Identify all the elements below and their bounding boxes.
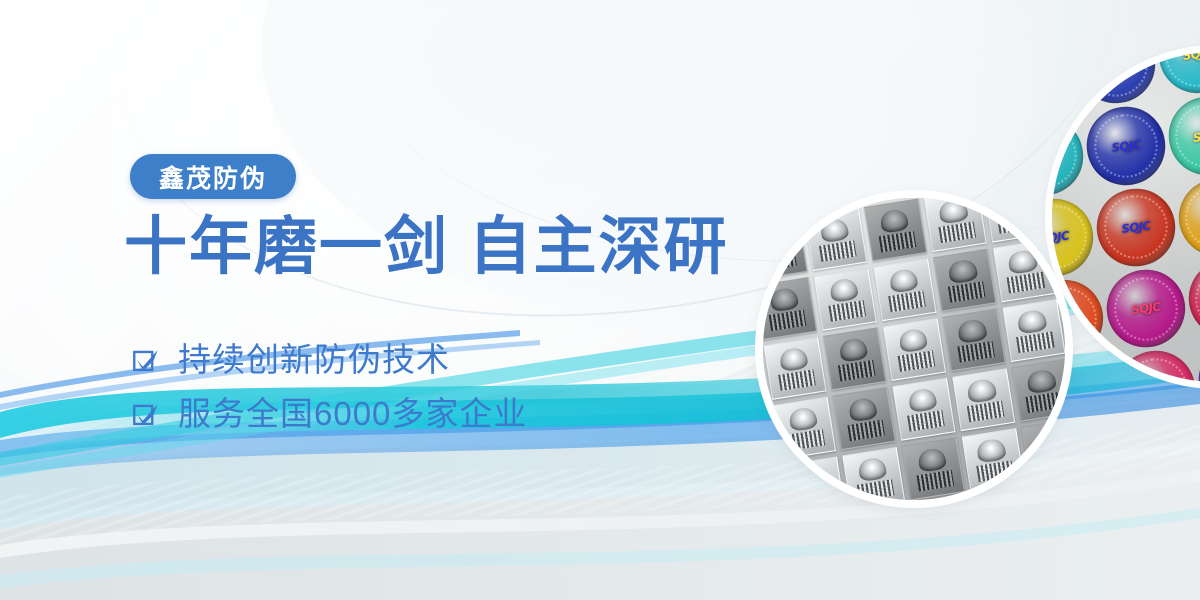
label-code-strip (887, 291, 925, 312)
label-emblem-icon (763, 227, 790, 253)
label-emblem-icon (938, 198, 969, 224)
list-item: 服务全国6000多家企业 (132, 384, 527, 438)
label-code-strip (768, 310, 806, 331)
hologram-sticker: SQJC (1184, 255, 1200, 342)
label-emblem-icon (838, 336, 869, 362)
label-code-strip (828, 300, 866, 321)
label-emblem-icon (966, 377, 997, 403)
hologram-sticker: SQJC (1174, 174, 1200, 261)
hologram-sticker: SQJC (1092, 184, 1179, 271)
label-code-strip (847, 419, 885, 440)
hologram-sticker: SQJC (1154, 52, 1200, 98)
hologram-sticker: SQJC (1052, 112, 1088, 199)
label-emblem-icon (857, 456, 888, 482)
hologram-sticker-label: SQJC (1052, 147, 1059, 164)
label-code-strip (916, 470, 954, 491)
list-item-label: 服务全国6000多家企业 (178, 387, 527, 435)
label-emblem-icon (947, 258, 978, 284)
label-emblem-icon (976, 437, 1007, 463)
label-code-strip (837, 360, 875, 381)
security-label-cell (763, 198, 798, 220)
security-label-cell (763, 277, 817, 340)
security-label-cell (773, 396, 836, 459)
hologram-sticker-label: SQJC (1120, 218, 1151, 235)
list-item: 持续创新防伪技术 (132, 330, 527, 384)
label-code-strip (796, 489, 834, 500)
hologram-sticker: SQJC (1082, 102, 1169, 189)
label-emblem-icon (1017, 308, 1048, 334)
label-code-strip (809, 198, 847, 202)
label-code-strip (818, 241, 856, 262)
holographic-label-grid: SQJCSQJCSQJCSQJCSQJCSQJCSQJCSQJCSQJCSQJC… (1052, 52, 1200, 382)
label-emblem-icon (1036, 427, 1065, 453)
label-code-strip (763, 198, 787, 212)
label-code-strip (856, 479, 894, 500)
label-code-strip (778, 369, 816, 390)
label-emblem-icon (847, 396, 878, 422)
label-code-strip (947, 281, 985, 302)
label-code-strip (1026, 391, 1064, 412)
label-code-strip (1035, 451, 1065, 472)
security-label-cell (1030, 478, 1065, 500)
label-code-strip (997, 212, 1035, 233)
label-code-strip (906, 410, 944, 431)
silver-label-grid (763, 198, 1065, 500)
security-label-cell (842, 446, 905, 500)
security-label-cell (883, 318, 946, 381)
label-emblem-icon (763, 475, 768, 500)
label-emblem-icon (787, 406, 818, 432)
label-code-strip (897, 350, 935, 371)
label-emblem-icon (916, 446, 947, 472)
hologram-sticker: SQJC (1052, 52, 1078, 118)
security-label-cell (933, 248, 996, 311)
security-label-cell (1011, 358, 1065, 421)
hologram-sticker: SQJC (1072, 52, 1159, 108)
security-label-cell (763, 217, 807, 280)
brand-badge: 鑫茂防伪 (130, 154, 296, 199)
security-label-cell (813, 267, 876, 330)
hologram-sticker: SQJC (1112, 346, 1199, 382)
hologram-sticker-label: SQJC (1182, 52, 1200, 63)
list-item-label: 持续创新防伪技术 (178, 333, 450, 381)
security-label-cell (942, 308, 1005, 371)
label-code-strip (1016, 331, 1054, 352)
checkbox-checked-icon (132, 344, 159, 371)
security-label-cell (873, 258, 936, 321)
hologram-sticker: SQJC (1164, 92, 1200, 179)
label-code-strip (763, 438, 765, 459)
label-emblem-icon (998, 198, 1029, 215)
label-emblem-icon (819, 217, 850, 243)
label-emblem-icon (1057, 198, 1065, 206)
label-emblem-icon (778, 346, 809, 372)
checkbox-checked-icon (132, 398, 159, 425)
hologram-sticker-label: SQJC (1140, 381, 1171, 382)
hologram-sticker: SQJC (1102, 265, 1189, 352)
security-label-cell (1043, 198, 1065, 233)
label-code-strip (763, 498, 775, 500)
label-code-strip (938, 222, 976, 243)
label-code-strip (878, 231, 916, 252)
security-label-cell (782, 456, 845, 500)
label-emblem-icon (888, 267, 919, 293)
promo-banner: SQJCSQJCSQJCSQJCSQJCSQJCSQJCSQJCSQJCSQJC… (0, 0, 1200, 600)
security-label-cell (983, 198, 1046, 242)
label-code-strip (1007, 272, 1045, 293)
label-emblem-icon (985, 497, 1016, 500)
security-label-cell (763, 465, 785, 500)
security-label-cell (901, 437, 964, 500)
label-emblem-icon (769, 286, 800, 312)
label-code-strip (966, 401, 1004, 422)
hologram-sticker-label: SQJC (1192, 127, 1200, 144)
silver-label-sheet-photo (763, 198, 1065, 500)
label-code-strip (957, 341, 995, 362)
hologram-sticker: SQJC (1194, 336, 1200, 382)
label-code-strip (763, 250, 797, 271)
security-label-cell (892, 377, 955, 440)
label-code-strip (787, 429, 825, 450)
security-label-cell (763, 336, 826, 399)
label-code-strip (1057, 203, 1065, 224)
security-label-cell (864, 198, 927, 261)
security-label-cell (1002, 299, 1065, 362)
page-title: 十年磨一剑 自主深研 (124, 216, 729, 279)
security-label-cell (923, 198, 986, 252)
label-emblem-icon (878, 208, 909, 234)
label-emblem-icon (1026, 368, 1057, 394)
label-code-strip (975, 460, 1013, 481)
feature-list: 持续创新防伪技术 服务全国6000多家企业 (132, 330, 527, 438)
security-label-cell (992, 239, 1055, 302)
holographic-label-photo: SQJCSQJCSQJCSQJCSQJCSQJCSQJCSQJCSQJCSQJC… (1052, 52, 1200, 382)
label-emblem-icon (828, 277, 859, 303)
label-emblem-icon (1045, 487, 1065, 500)
label-emblem-icon (907, 387, 938, 413)
label-emblem-icon (897, 327, 928, 353)
label-emblem-icon (957, 318, 988, 344)
hologram-sticker-label: SQJC (1100, 56, 1131, 73)
security-label-cell (961, 427, 1024, 490)
security-label-cell (823, 327, 886, 390)
security-label-cell (832, 387, 895, 450)
security-label-cell (952, 368, 1015, 431)
hologram-sticker-label: SQJC (1110, 137, 1141, 154)
security-label-cell (804, 208, 867, 271)
hologram-sticker-label: SQJC (1130, 300, 1161, 317)
label-emblem-icon (797, 465, 828, 491)
security-label-cell (1021, 418, 1065, 481)
label-emblem-icon (1007, 248, 1038, 274)
